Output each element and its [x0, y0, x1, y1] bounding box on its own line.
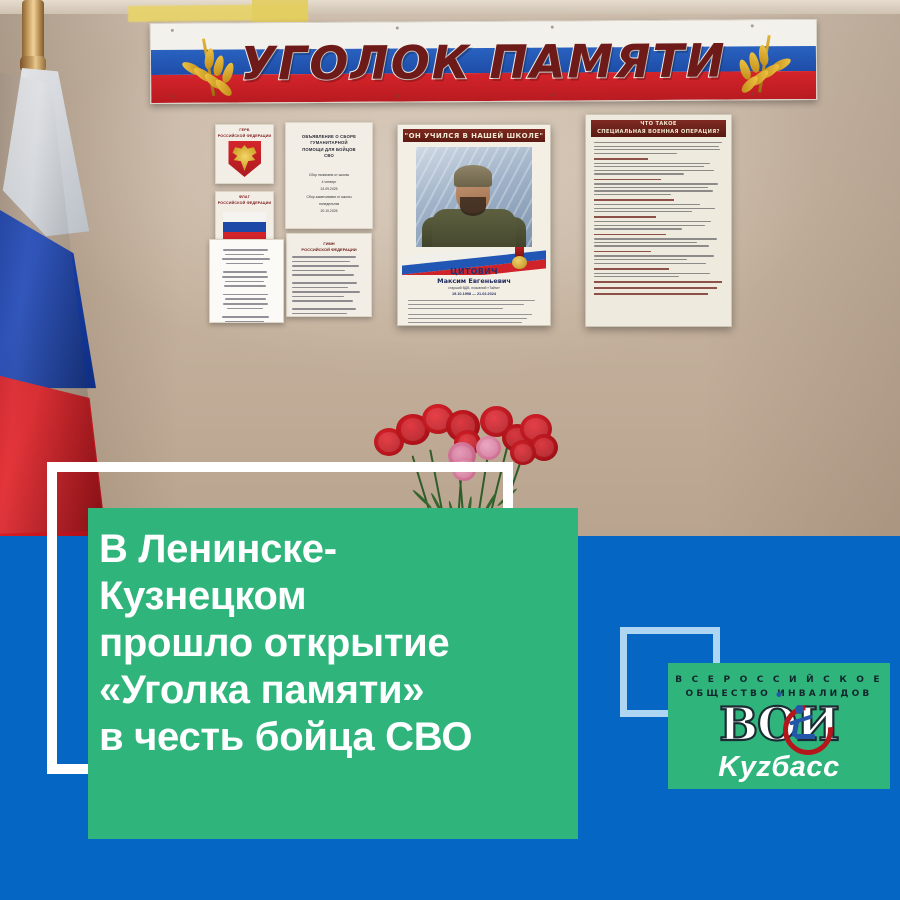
anthem-caption-line2: РОССИЙСКОЙ ФЕДЕРАЦИИ [287, 247, 371, 253]
anthem-text-lines [292, 256, 366, 317]
voi-logo-card: В С Е Р О С С И Й С К О Е ОБЩЕСТВО ИНВАЛ… [668, 663, 890, 789]
announcement-body-line2: 4 четверг [286, 179, 372, 186]
wheelchair-icon [783, 709, 829, 755]
svo-poster-header: ЧТО ТАКОЕ СПЕЦИАЛЬНАЯ ВОЕННАЯ ОПЕРАЦИЯ? [591, 120, 726, 137]
svo-poster-text [594, 142, 723, 319]
soldier-memorial-poster: "ОН УЧИЛСЯ В НАШЕЙ ШКОЛЕ" ЦИТОВИЧ Максим [397, 124, 551, 326]
wheelchair-person-leg [795, 734, 815, 739]
announcement-body-line5: понедельник [286, 201, 372, 208]
headline-line-3: прошло открытие [99, 620, 584, 667]
logo-abbreviation: ВОИ [668, 701, 890, 747]
soldier-name: Максим Евгеньевич [398, 277, 550, 285]
wheelchair-person-head [795, 705, 804, 714]
yellow-tape-strip-2 [252, 0, 308, 22]
announcement-body-line1: Сбор начинаем от школы [286, 172, 372, 179]
carnation-pink [476, 436, 501, 460]
announcement-body-line6: 20.10.2025 [286, 208, 372, 215]
poster-header-bar: "ОН УЧИЛСЯ В НАШЕЙ ШКОЛЕ" [403, 129, 545, 142]
announcement-title-line3: ПОМОЩИ ДЛЯ БОЙЦОВ [293, 147, 365, 153]
headline-line-1: В Ленинске- [99, 526, 584, 573]
flag-sheet-stripe-blue [223, 222, 266, 232]
headline-text: В Ленинске- Кузнецком прошло открытие «У… [99, 526, 584, 761]
soldier-rank: старший ВДВ, позывной «Тайга» [398, 286, 550, 290]
poem-text-lines [214, 249, 278, 323]
flag-caption-line2: РОССИЙСКОЙ ФЕДЕРАЦИИ [216, 198, 273, 205]
medal-icon [508, 247, 538, 269]
coat-of-arms-sheet: ГЕРБ РОССИЙСКОЙ ФЕДЕРАЦИИ [215, 124, 274, 184]
announcement-sheet: ОБЪЯВЛЕНИЕ О СБОРЕ ГУМАНИТАРНОЙ ПОМОЩИ Д… [285, 122, 373, 229]
poem-sheet [209, 239, 284, 323]
headline-line-5: в честь бойца СВО [99, 714, 584, 761]
headline-line-4: «Уголка памяти» [99, 667, 584, 714]
carnation-red [510, 440, 536, 465]
soldier-beard [460, 197, 486, 216]
social-media-card: УГОЛОК ПАМЯТИ ГЕРБ РОССИЙСКОЙ ФЕДЕРАЦИИ … [0, 0, 900, 900]
announcement-body-line3: 24.09.2025 [286, 186, 372, 193]
logo-region-name: Kyzбасс [668, 751, 890, 784]
russian-flag-on-pole [0, 0, 122, 536]
soldier-cap [454, 165, 492, 187]
announcement-body-line4: Сбор заканчиваем от школы [286, 194, 372, 201]
soldier-dates: 19.10.1998 — 21.02.2024 [398, 292, 550, 296]
flag-sheet-stripe-white [223, 212, 266, 222]
banner-title: УГОЛОК ПАМЯТИ [151, 20, 816, 103]
svo-header-line2: СПЕЦИАЛЬНАЯ ВОЕННАЯ ОПЕРАЦИЯ? [597, 129, 720, 137]
soldier-portrait-photo [416, 147, 532, 247]
soldier-biography-lines [408, 300, 540, 326]
logo-tagline-line1: В С Е Р О С С И Й С К О Е [668, 675, 890, 685]
photograph: УГОЛОК ПАМЯТИ ГЕРБ РОССИЙСКОЙ ФЕДЕРАЦИИ … [0, 0, 900, 536]
coat-of-arms-caption-line2: РОССИЙСКОЙ ФЕДЕРАЦИИ [216, 131, 273, 138]
poster-header-text: "ОН УЧИЛСЯ В НАШЕЙ ШКОЛЕ" [405, 132, 544, 140]
headline-line-2: Кузнецком [99, 573, 584, 620]
svo-header-line1: ЧТО ТАКОЕ [640, 121, 676, 129]
anthem-sheet: ГИМН РОССИЙСКОЙ ФЕДЕРАЦИИ [286, 233, 372, 317]
soldier-surname: ЦИТОВИЧ [398, 267, 550, 276]
memory-corner-banner: УГОЛОК ПАМЯТИ [150, 19, 817, 104]
svo-information-poster: ЧТО ТАКОЕ СПЕЦИАЛЬНАЯ ВОЕННАЯ ОПЕРАЦИЯ? [585, 114, 732, 327]
